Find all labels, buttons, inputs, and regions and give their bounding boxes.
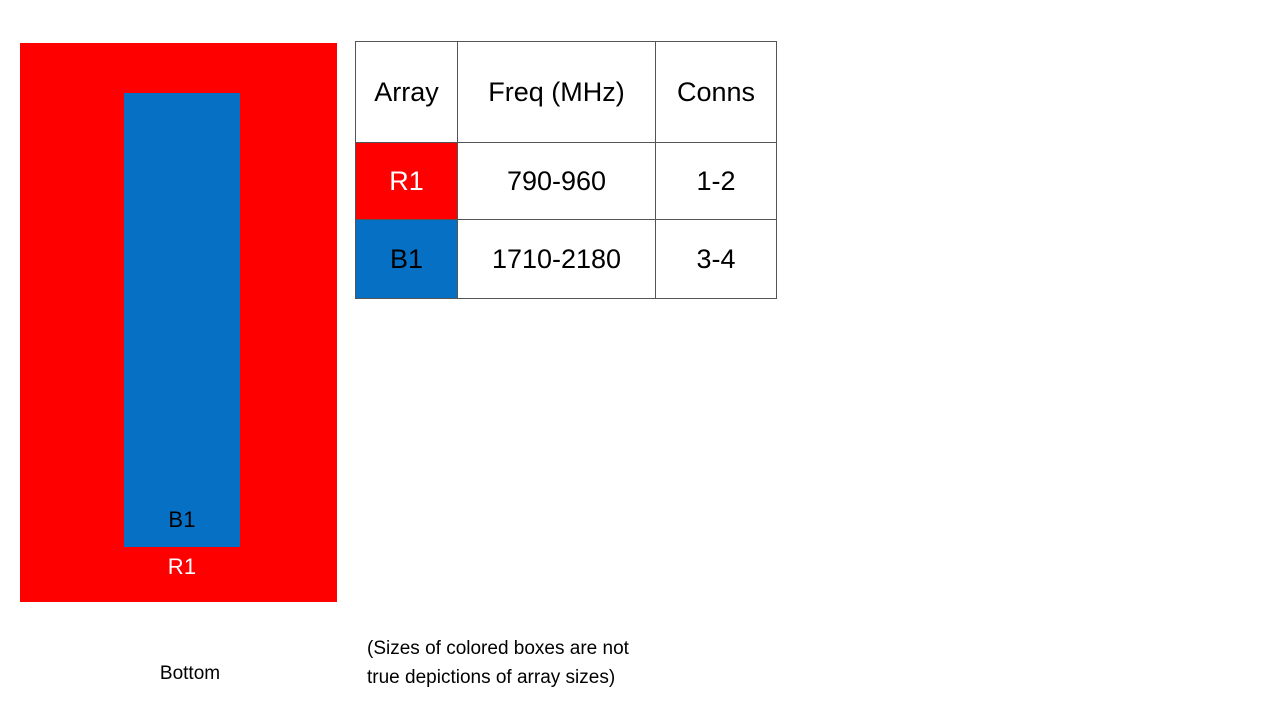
array-diagram: B1 R1 bbox=[20, 43, 337, 602]
bottom-label: Bottom bbox=[20, 663, 360, 686]
footnote-line-1: (Sizes of colored boxes are not bbox=[367, 634, 747, 663]
b1-array-label: B1 bbox=[124, 509, 240, 531]
cell-freq-b1: 1710-2180 bbox=[458, 220, 656, 299]
header-cell-conns: Conns bbox=[656, 42, 777, 143]
footnote-line-2: true depictions of array sizes) bbox=[367, 663, 747, 692]
cell-conns-r1: 1-2 bbox=[656, 143, 777, 220]
table-row: B1 1710-2180 3-4 bbox=[356, 220, 777, 299]
cell-array-b1: B1 bbox=[356, 220, 458, 299]
header-cell-array: Array bbox=[356, 42, 458, 143]
cell-freq-r1: 790-960 bbox=[458, 143, 656, 220]
r1-array-label: R1 bbox=[124, 556, 240, 578]
array-spec-table: Array Freq (MHz) Conns R1 790-960 1-2 B1… bbox=[355, 41, 777, 299]
table-header-row: Array Freq (MHz) Conns bbox=[356, 42, 777, 143]
header-cell-freq: Freq (MHz) bbox=[458, 42, 656, 143]
cell-conns-b1: 3-4 bbox=[656, 220, 777, 299]
b1-array-box: B1 bbox=[124, 93, 240, 547]
footnote: (Sizes of colored boxes are not true dep… bbox=[367, 634, 747, 693]
table-row: R1 790-960 1-2 bbox=[356, 143, 777, 220]
cell-array-r1: R1 bbox=[356, 143, 458, 220]
